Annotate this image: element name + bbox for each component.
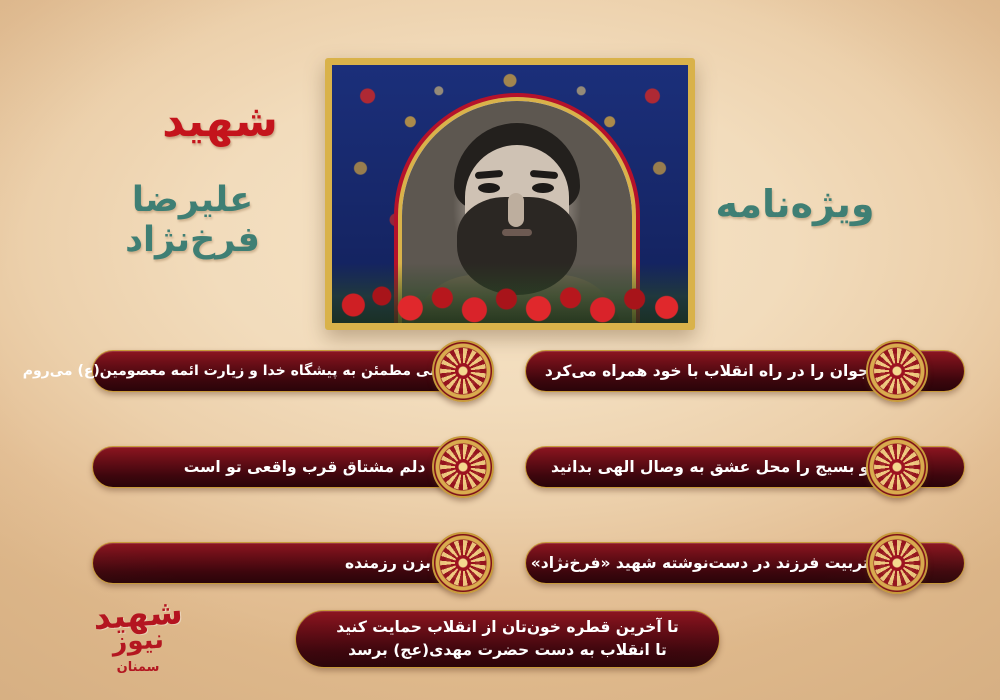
medallion-icon-l3 xyxy=(432,532,494,594)
logo-mark-line2: نیوز xyxy=(77,623,198,659)
headline-bottom-line1: تا آخرین قطره خون‌تان از انقلاب حمایت کن… xyxy=(336,618,678,636)
medallion-icon-r2 xyxy=(866,436,928,498)
medallion-icon-r1 xyxy=(866,340,928,402)
medallion-icon-l2 xyxy=(432,436,494,498)
logo-caption: سمنان xyxy=(78,660,198,675)
headline-label-bottom: تا آخرین قطره خون‌تان از انقلاب حمایت کن… xyxy=(296,616,719,663)
headline-item-bottom[interactable]: تا آخرین قطره خون‌تان از انقلاب حمایت کن… xyxy=(295,610,720,668)
medallion-icon-l1 xyxy=(432,340,494,402)
poster-canvas: شهید علیرضا فرخ‌نژاد ویژه‌نامه نسل جوان … xyxy=(0,0,1000,700)
headline-bottom-line2: تا انقلاب به دست حضرت مهدی(عج) برسد xyxy=(348,641,667,659)
site-logo[interactable]: شهید نیوز سمنان xyxy=(78,598,198,676)
medallion-icon-r3 xyxy=(866,532,928,594)
